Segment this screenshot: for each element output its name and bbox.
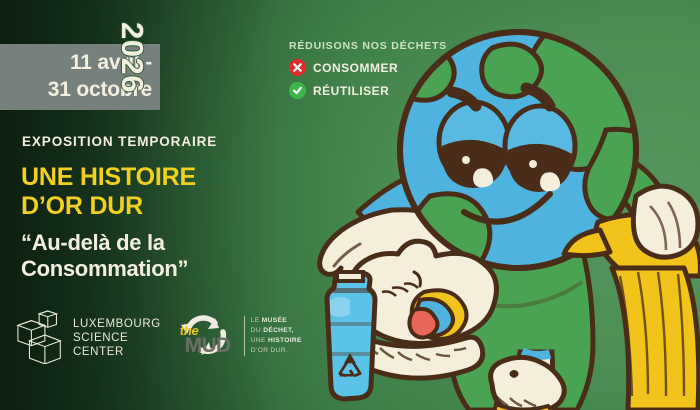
mud-tagline-line-2: DU DÉCHET, — [251, 326, 302, 336]
cross-icon — [289, 59, 306, 76]
subtitle-line-1: “Au-delà de la — [21, 230, 321, 256]
date-year: 2026 — [110, 22, 150, 116]
mud-tagline-line-3: UNE HISTOIRE — [251, 336, 302, 346]
page-title: UNE HISTOIRE D’OR DUR — [21, 163, 321, 220]
mud-tagline: LE MUSÉE DU DÉCHET, UNE HISTOIRE D’OR DU… — [244, 316, 302, 356]
mud-tag-2a: DU — [251, 327, 263, 334]
science-center-name: LUXEMBOURG SCIENCE CENTER — [73, 308, 161, 359]
cube-logo-icon — [16, 308, 68, 364]
logo-strip: LUXEMBOURG SCIENCE CENTER — [16, 308, 302, 364]
kicker-label: EXPOSITION TEMPORAIRE — [22, 134, 217, 149]
subtitle-line-2: Consommation” — [21, 256, 321, 282]
title-line-1: UNE HISTOIRE — [21, 163, 321, 192]
mud-tag-1a: LE — [251, 317, 262, 324]
reduce-heading: RÉDUISONS NOS DÉCHETS — [289, 40, 447, 52]
reduce-item-consommer: CONSOMMER — [289, 59, 447, 76]
reduce-item-reutiliser: RÉUTILISER — [289, 82, 447, 99]
reduce-item-label: RÉUTILISER — [313, 84, 389, 98]
luxembourg-science-center-logo[interactable]: LUXEMBOURG SCIENCE CENTER — [16, 308, 161, 364]
lsc-line-1: LUXEMBOURG — [73, 317, 161, 331]
check-icon — [289, 82, 306, 99]
mud-tag-3a: UNE — [251, 337, 268, 344]
reduce-item-label: CONSOMMER — [313, 61, 398, 75]
lsc-line-2: SCIENCE — [73, 331, 161, 345]
title-line-2: D’OR DUR — [21, 192, 321, 221]
poster-canvas: 11 avril - 31 octobre 2026 EXPOSITION TE… — [0, 0, 700, 410]
mud-tag-2b: DÉCHET, — [263, 327, 294, 334]
mud-museum-logo[interactable]: the MUD LE MUSÉE DU DÉCHET, UNE HISTOIRE… — [175, 310, 302, 362]
mud-tag-1b: MUSÉE — [262, 317, 287, 324]
lsc-line-3: CENTER — [73, 345, 161, 359]
page-subtitle: “Au-delà de la Consommation” — [21, 230, 321, 282]
mud-tag-3b: HISTOIRE — [268, 337, 302, 344]
mud-word-label: MUD — [185, 334, 230, 358]
mud-tagline-line-4: D’OR DUR. — [251, 346, 302, 356]
mud-tagline-line-1: LE MUSÉE — [251, 316, 302, 326]
reduce-waste-callout: RÉDUISONS NOS DÉCHETS CONSOMMER RÉUTILIS… — [289, 40, 447, 105]
